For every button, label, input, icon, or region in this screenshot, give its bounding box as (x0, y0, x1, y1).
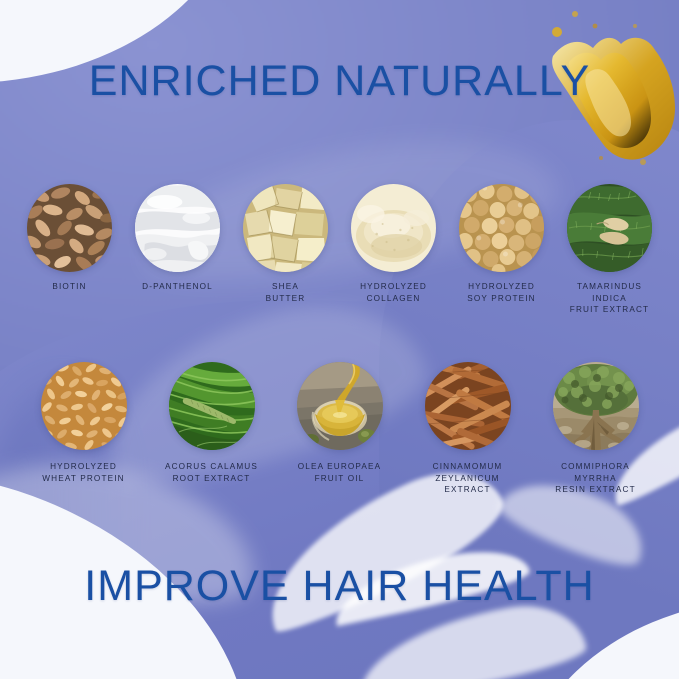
ingredient-item-acorus-calamus[interactable]: ACORUS CALAMUS ROOT EXTRACT (162, 362, 262, 496)
ingredient-item-cinnamomum-zeylanicum[interactable]: CINNAMOMUM ZEYLANICUM EXTRACT (418, 362, 518, 496)
panthenol-cream-icon (135, 184, 220, 272)
soybeans-icon (459, 184, 544, 272)
ingredient-row-2: HYDROLYZED WHEAT PROTEIN (0, 362, 679, 496)
ingredient-label: D-PANTHENOL (142, 281, 213, 293)
shea-butter-chunks-icon (243, 184, 328, 272)
ingredient-label: HYDROLYZED COLLAGEN (360, 281, 427, 304)
ingredient-label: TAMARINDUS INDICA FRUIT EXTRACT (567, 281, 653, 316)
ingredient-item-biotin[interactable]: BIOTIN (27, 184, 113, 316)
tamarind-leaves-icon (567, 184, 652, 272)
ingredient-poster: ENRICHED NATURALLY (0, 0, 679, 679)
ingredient-item-tamarindus-indica[interactable]: TAMARINDUS INDICA FRUIT EXTRACT (567, 184, 653, 316)
collagen-powder-icon (351, 184, 436, 272)
calamus-leaves-icon (169, 362, 255, 450)
ingredient-row-1: BIOTIN D-PANTHENOL (0, 184, 679, 316)
ingredient-label: HYDROLYZED SOY PROTEIN (467, 281, 535, 304)
ingredient-item-commiphora-myrrha[interactable]: COMMIPHORA MYRRHA RESIN EXTRACT (546, 362, 646, 496)
ingredient-label: CINNAMOMUM ZEYLANICUM EXTRACT (433, 461, 503, 496)
ingredient-item-shea-butter[interactable]: SHEA BUTTER (243, 184, 329, 316)
cinnamon-sticks-icon (425, 362, 511, 450)
ingredient-item-hydrolyzed-soy-protein[interactable]: HYDROLYZED SOY PROTEIN (459, 184, 545, 316)
page-title-bottom: IMPROVE HAIR HEALTH (0, 562, 679, 611)
wheat-grains-icon (41, 362, 127, 450)
ingredient-item-hydrolyzed-wheat-protein[interactable]: HYDROLYZED WHEAT PROTEIN (34, 362, 134, 496)
ingredient-label: ACORUS CALAMUS ROOT EXTRACT (165, 461, 258, 484)
ingredient-item-hydrolyzed-collagen[interactable]: HYDROLYZED COLLAGEN (351, 184, 437, 316)
ingredient-item-d-panthenol[interactable]: D-PANTHENOL (135, 184, 221, 316)
ingredient-item-olea-europaea[interactable]: OLEA EUROPAEA FRUIT OIL (290, 362, 390, 496)
olive-oil-pour-icon (297, 362, 383, 450)
ingredient-label: BIOTIN (52, 281, 86, 293)
ingredient-label: OLEA EUROPAEA FRUIT OIL (298, 461, 382, 484)
ingredient-label: COMMIPHORA MYRRHA RESIN EXTRACT (555, 461, 635, 496)
ingredient-label: HYDROLYZED WHEAT PROTEIN (42, 461, 124, 484)
myrrh-tree-icon (553, 362, 639, 450)
biotin-seeds-icon (27, 184, 112, 272)
ingredient-label: SHEA BUTTER (266, 281, 306, 304)
page-title-top: ENRICHED NATURALLY (0, 57, 679, 106)
